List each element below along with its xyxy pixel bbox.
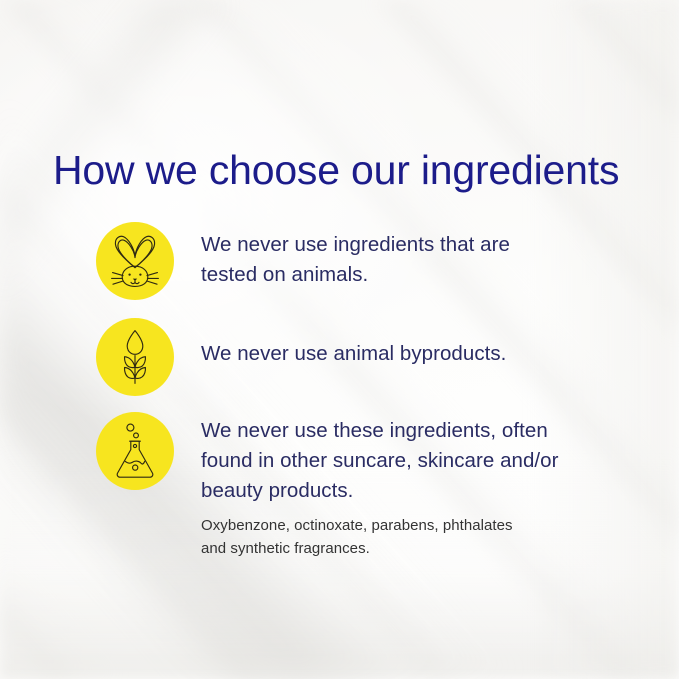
claim-text-block: We never use these ingredients, often fo… [201,416,641,560]
ingredients-infographic: How we choose our ingredients [0,0,679,679]
claim-subtext-line: and synthetic fragrances. [201,538,641,561]
claim-text-line: beauty products. [201,476,641,506]
page-title: How we choose our ingredients [53,146,619,194]
claim-subtext: Oxybenzone, octinoxate, parabens, phthal… [201,515,641,560]
claim-text-line: found in other suncare, skincare and/or [201,446,641,476]
claim-text-block: We never use animal byproducts. [201,339,621,369]
bunny-cruelty-free-icon [96,222,174,300]
claim-text-block: We never use ingredients that are tested… [201,230,621,290]
claim-text-line: We never use ingredients that are [201,230,621,260]
claim-text: We never use animal byproducts. [201,339,621,369]
claim-text: We never use ingredients that are tested… [201,230,621,290]
claim-text-line: tested on animals. [201,260,621,290]
claim-text-line: We never use these ingredients, often [201,416,641,446]
plant-sprig-icon [96,318,174,396]
claim-text-line: We never use animal byproducts. [201,339,621,369]
flask-beaker-icon [96,412,174,490]
claim-text: We never use these ingredients, often fo… [201,416,641,506]
claim-subtext-line: Oxybenzone, octinoxate, parabens, phthal… [201,515,641,538]
